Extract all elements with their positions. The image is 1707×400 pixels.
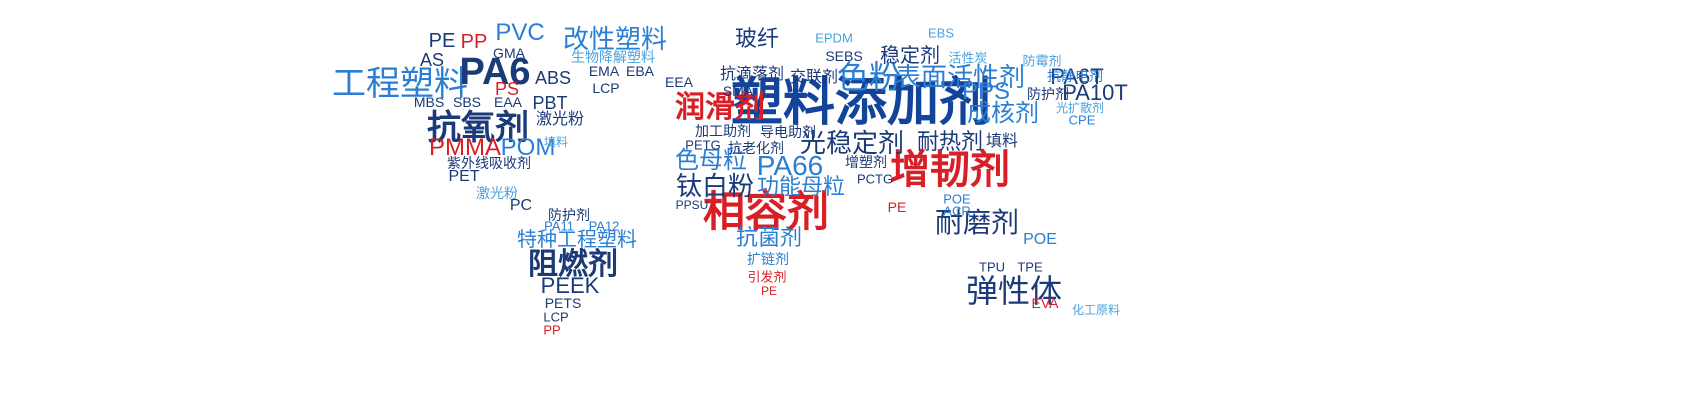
cloud-word[interactable]: 功能母粒: [757, 176, 845, 198]
cloud-word[interactable]: MBS: [414, 95, 444, 109]
cloud-word[interactable]: PE: [888, 200, 907, 214]
cloud-word[interactable]: GMA: [493, 46, 525, 60]
cloud-word[interactable]: 生物降解塑料: [571, 50, 655, 64]
cloud-word[interactable]: EPDM: [815, 32, 853, 45]
cloud-word[interactable]: TPU: [979, 261, 1005, 274]
cloud-word[interactable]: POE: [1023, 232, 1057, 248]
cloud-word[interactable]: 防护剂: [548, 208, 590, 222]
cloud-word[interactable]: 化工原料: [1072, 304, 1120, 316]
word-cloud-canvas: 塑料添加剂相容剂增韧剂工程塑料抗氧剂PA6阻燃剂弹性体润滑剂色粉表面活性剂光稳定…: [0, 0, 1707, 400]
cloud-word[interactable]: SMA: [723, 84, 753, 98]
cloud-word[interactable]: PE: [761, 285, 777, 297]
cloud-word[interactable]: 激光粉: [476, 186, 518, 200]
cloud-word[interactable]: ACR: [943, 205, 970, 218]
cloud-word[interactable]: PA12: [589, 220, 620, 233]
cloud-word[interactable]: 抗滴落剂: [720, 67, 784, 83]
cloud-word[interactable]: PPS: [962, 80, 1010, 104]
cloud-word[interactable]: PETG: [685, 139, 720, 152]
cloud-word[interactable]: PPSU: [676, 199, 709, 211]
cloud-word[interactable]: 加工助剂: [695, 124, 751, 138]
cloud-word[interactable]: AS: [420, 51, 444, 69]
cloud-word[interactable]: SBS: [453, 95, 481, 109]
cloud-word[interactable]: 玻纤: [735, 28, 779, 50]
cloud-word[interactable]: 激光粉: [536, 112, 584, 128]
cloud-word[interactable]: EMA: [589, 64, 619, 78]
cloud-word[interactable]: 增塑剂: [845, 155, 887, 169]
cloud-word[interactable]: 钛白粉: [676, 173, 754, 199]
cloud-word[interactable]: ABS: [535, 69, 571, 87]
cloud-word[interactable]: PEEK: [541, 275, 600, 297]
cloud-word[interactable]: PE: [429, 31, 456, 51]
cloud-word[interactable]: PP: [461, 32, 488, 52]
cloud-word[interactable]: PBT: [532, 94, 567, 112]
cloud-word[interactable]: 活性炭: [948, 52, 987, 65]
cloud-word[interactable]: 抗菌剂: [736, 227, 802, 249]
cloud-word[interactable]: PET: [448, 169, 479, 185]
cloud-word[interactable]: 紫外线吸收剂: [447, 156, 531, 170]
cloud-word[interactable]: SEBS: [825, 49, 862, 63]
cloud-word[interactable]: PP: [543, 324, 560, 337]
cloud-word[interactable]: 稳定剂: [880, 46, 940, 66]
cloud-word[interactable]: TPE: [1017, 261, 1042, 274]
cloud-word[interactable]: EBS: [928, 27, 954, 40]
cloud-word[interactable]: EBA: [626, 64, 654, 78]
cloud-word[interactable]: 填料: [986, 134, 1018, 150]
cloud-word[interactable]: PCTG: [857, 173, 893, 186]
cloud-word[interactable]: 抗老化剂: [728, 141, 784, 155]
cloud-word[interactable]: PVC: [495, 21, 544, 45]
cloud-word[interactable]: CPE: [1069, 114, 1096, 127]
cloud-word[interactable]: 光扩散剂: [1056, 102, 1104, 114]
cloud-word[interactable]: 扩链剂: [747, 252, 789, 266]
cloud-word[interactable]: 工程塑料: [332, 67, 468, 101]
cloud-word[interactable]: 增韧剂: [890, 150, 1010, 190]
cloud-word[interactable]: EVA: [1032, 296, 1059, 310]
cloud-word[interactable]: 导电助剂: [760, 125, 816, 139]
cloud-word[interactable]: 填料: [544, 136, 568, 148]
cloud-word[interactable]: EAA: [494, 95, 522, 109]
cloud-word[interactable]: 引发剂: [747, 271, 786, 284]
cloud-word[interactable]: PETS: [545, 296, 582, 310]
cloud-word[interactable]: LCP: [592, 81, 619, 95]
cloud-word[interactable]: EEA: [665, 75, 693, 89]
cloud-word[interactable]: 防护剂: [1027, 87, 1069, 101]
cloud-word[interactable]: 防霉剂: [1022, 55, 1061, 68]
cloud-word[interactable]: 耐热剂: [917, 131, 983, 153]
cloud-word[interactable]: 成核剂: [967, 102, 1039, 126]
cloud-word[interactable]: 抗静电剂: [1047, 69, 1103, 83]
cloud-word[interactable]: 交联剂: [790, 70, 838, 86]
